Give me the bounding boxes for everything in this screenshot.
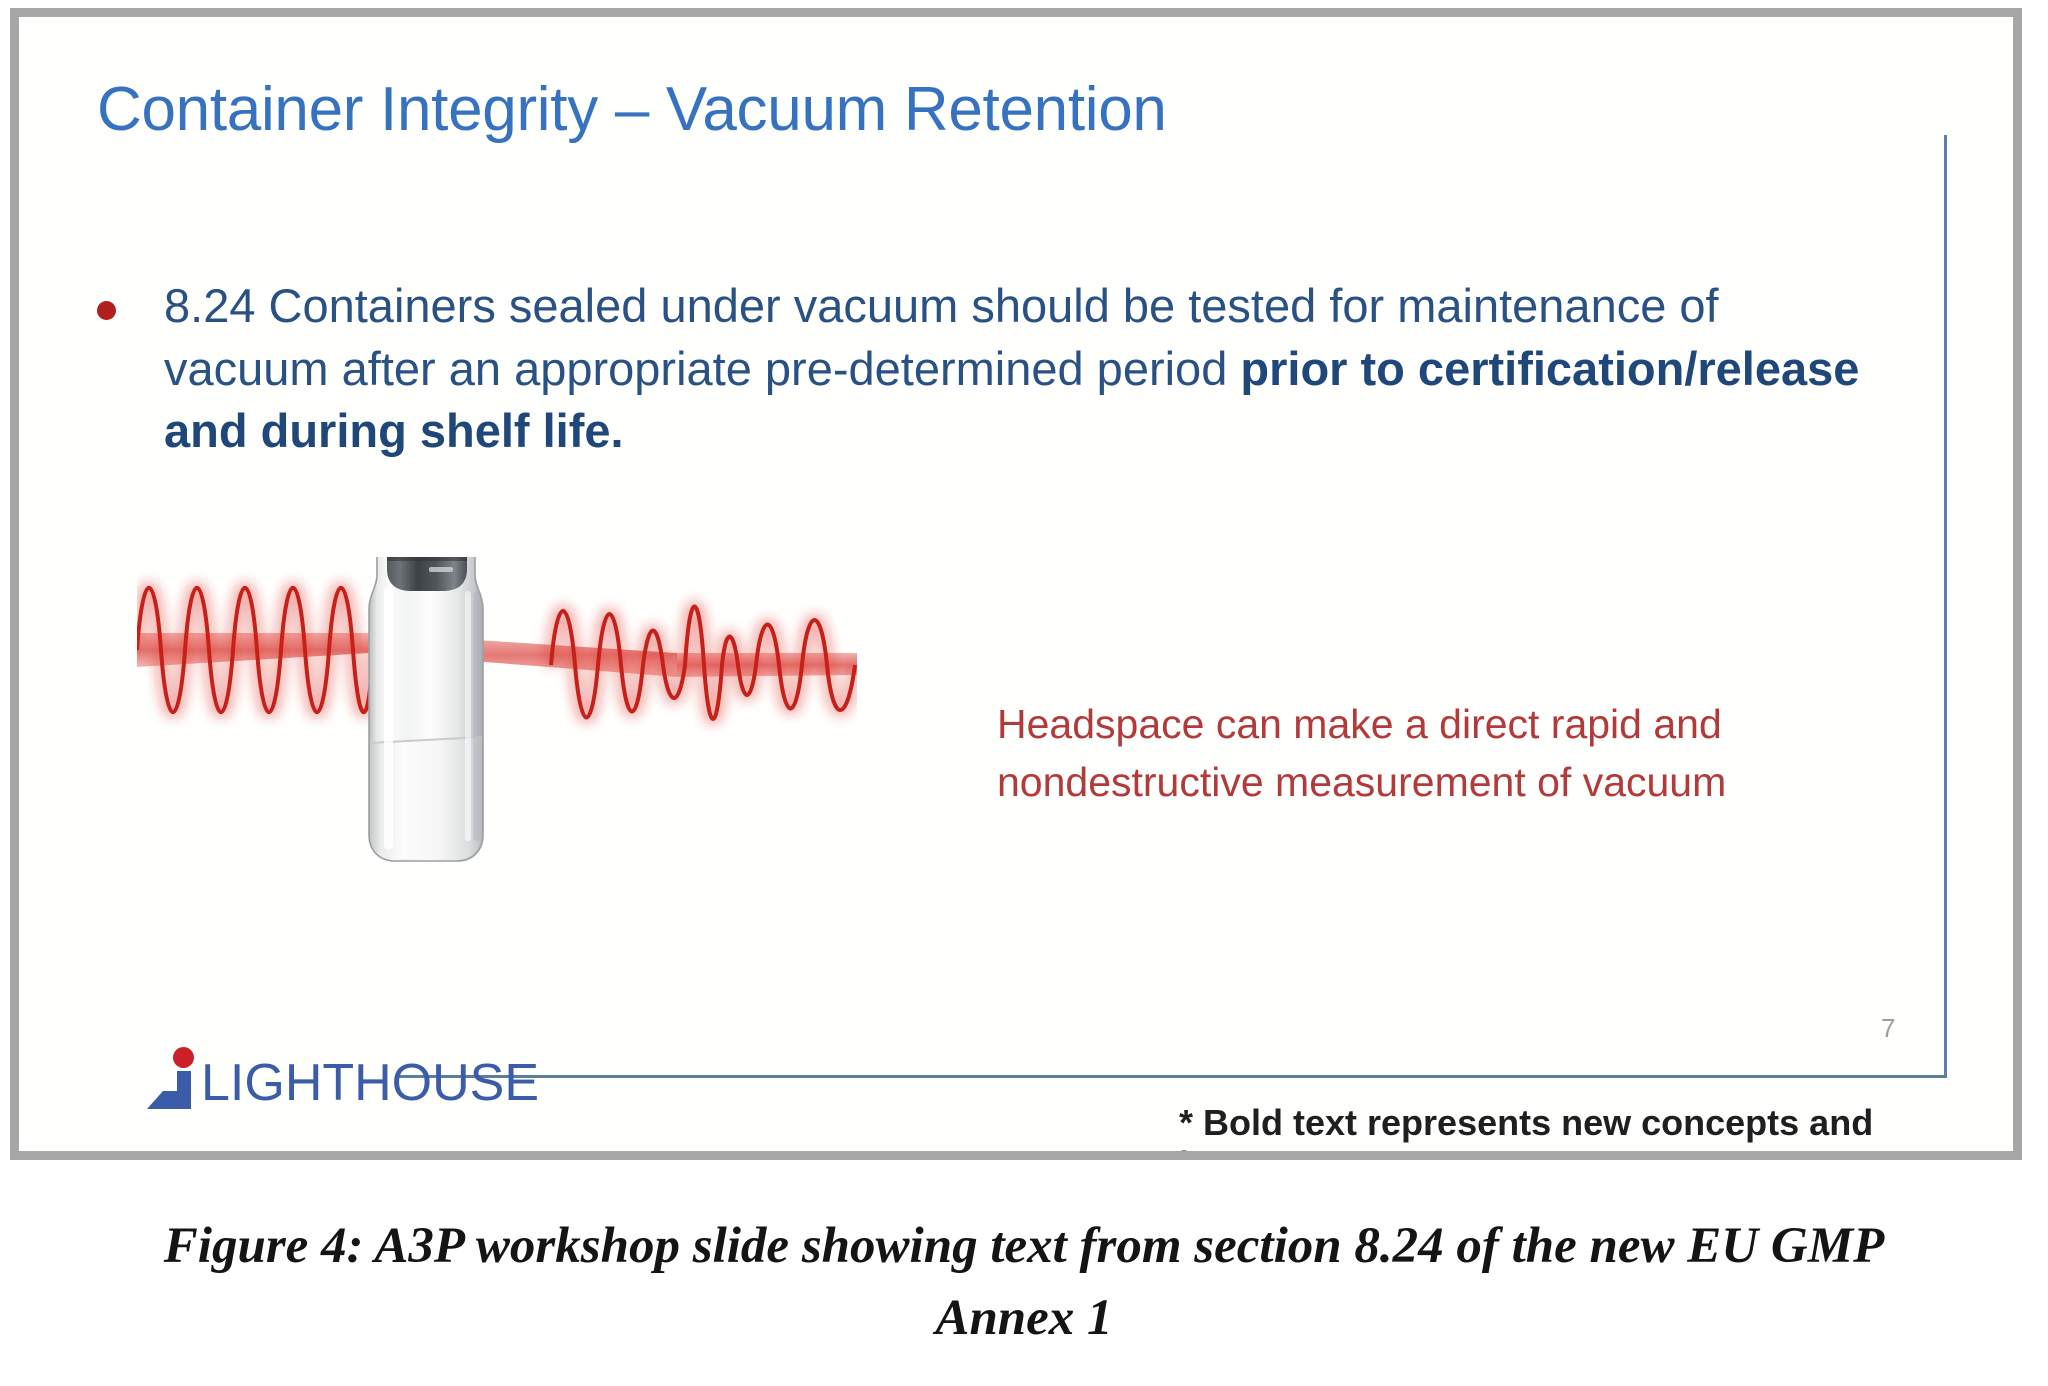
bullet-block: 8.24 Containers sealed under vacuum shou… bbox=[97, 275, 1887, 463]
glass-vial bbox=[369, 557, 483, 861]
lighthouse-wordmark: LIGHTHOUSE bbox=[201, 1059, 539, 1109]
headspace-annotation: Headspace can make a direct rapid and no… bbox=[997, 695, 1837, 811]
figure-caption-line-1: Figure 4: A3P workshop slide showing tex… bbox=[24, 1210, 2024, 1282]
vial-highlight-left bbox=[384, 587, 393, 849]
slide-footnote: * Bold text represents new concepts and … bbox=[1179, 1102, 2013, 1151]
bullet-list-item: 8.24 Containers sealed under vacuum shou… bbox=[97, 275, 1887, 463]
lighthouse-base-bevel bbox=[147, 1091, 163, 1109]
headspace-annotation-line-2: nondestructive measurement of vacuum bbox=[997, 753, 1837, 811]
lighthouse-mark-icon bbox=[147, 1047, 199, 1109]
bullet-text-period: . bbox=[611, 404, 624, 457]
figure-page: Container Integrity – Vacuum Retention 8… bbox=[0, 0, 2048, 1386]
vial-highlight-right bbox=[465, 591, 471, 841]
slide-title: Container Integrity – Vacuum Retention bbox=[97, 77, 1167, 144]
lighthouse-beacon-dot-icon bbox=[173, 1047, 194, 1068]
bullet-dot-icon bbox=[97, 301, 116, 320]
bullet-text: 8.24 Containers sealed under vacuum shou… bbox=[164, 275, 1887, 463]
slide-frame: Container Integrity – Vacuum Retention 8… bbox=[10, 8, 2022, 1160]
laser-beam bbox=[137, 633, 857, 677]
vial-laser-illustration bbox=[137, 557, 857, 1007]
figure-caption: Figure 4: A3P workshop slide showing tex… bbox=[24, 1210, 2024, 1355]
figure-caption-line-2: Annex 1 bbox=[24, 1282, 2024, 1354]
lighthouse-logo: LIGHTHOUSE bbox=[147, 1047, 539, 1109]
decorative-vertical-rule bbox=[1944, 135, 1947, 1077]
slide-canvas: Container Integrity – Vacuum Retention 8… bbox=[19, 17, 2013, 1151]
decorative-horizontal-rule bbox=[397, 1075, 1947, 1078]
slide-page-number: 7 bbox=[1881, 1013, 1895, 1044]
vial-shade-right bbox=[473, 591, 482, 841]
rubber-stopper bbox=[387, 557, 467, 591]
headspace-annotation-line-1: Headspace can make a direct rapid and bbox=[997, 695, 1837, 753]
